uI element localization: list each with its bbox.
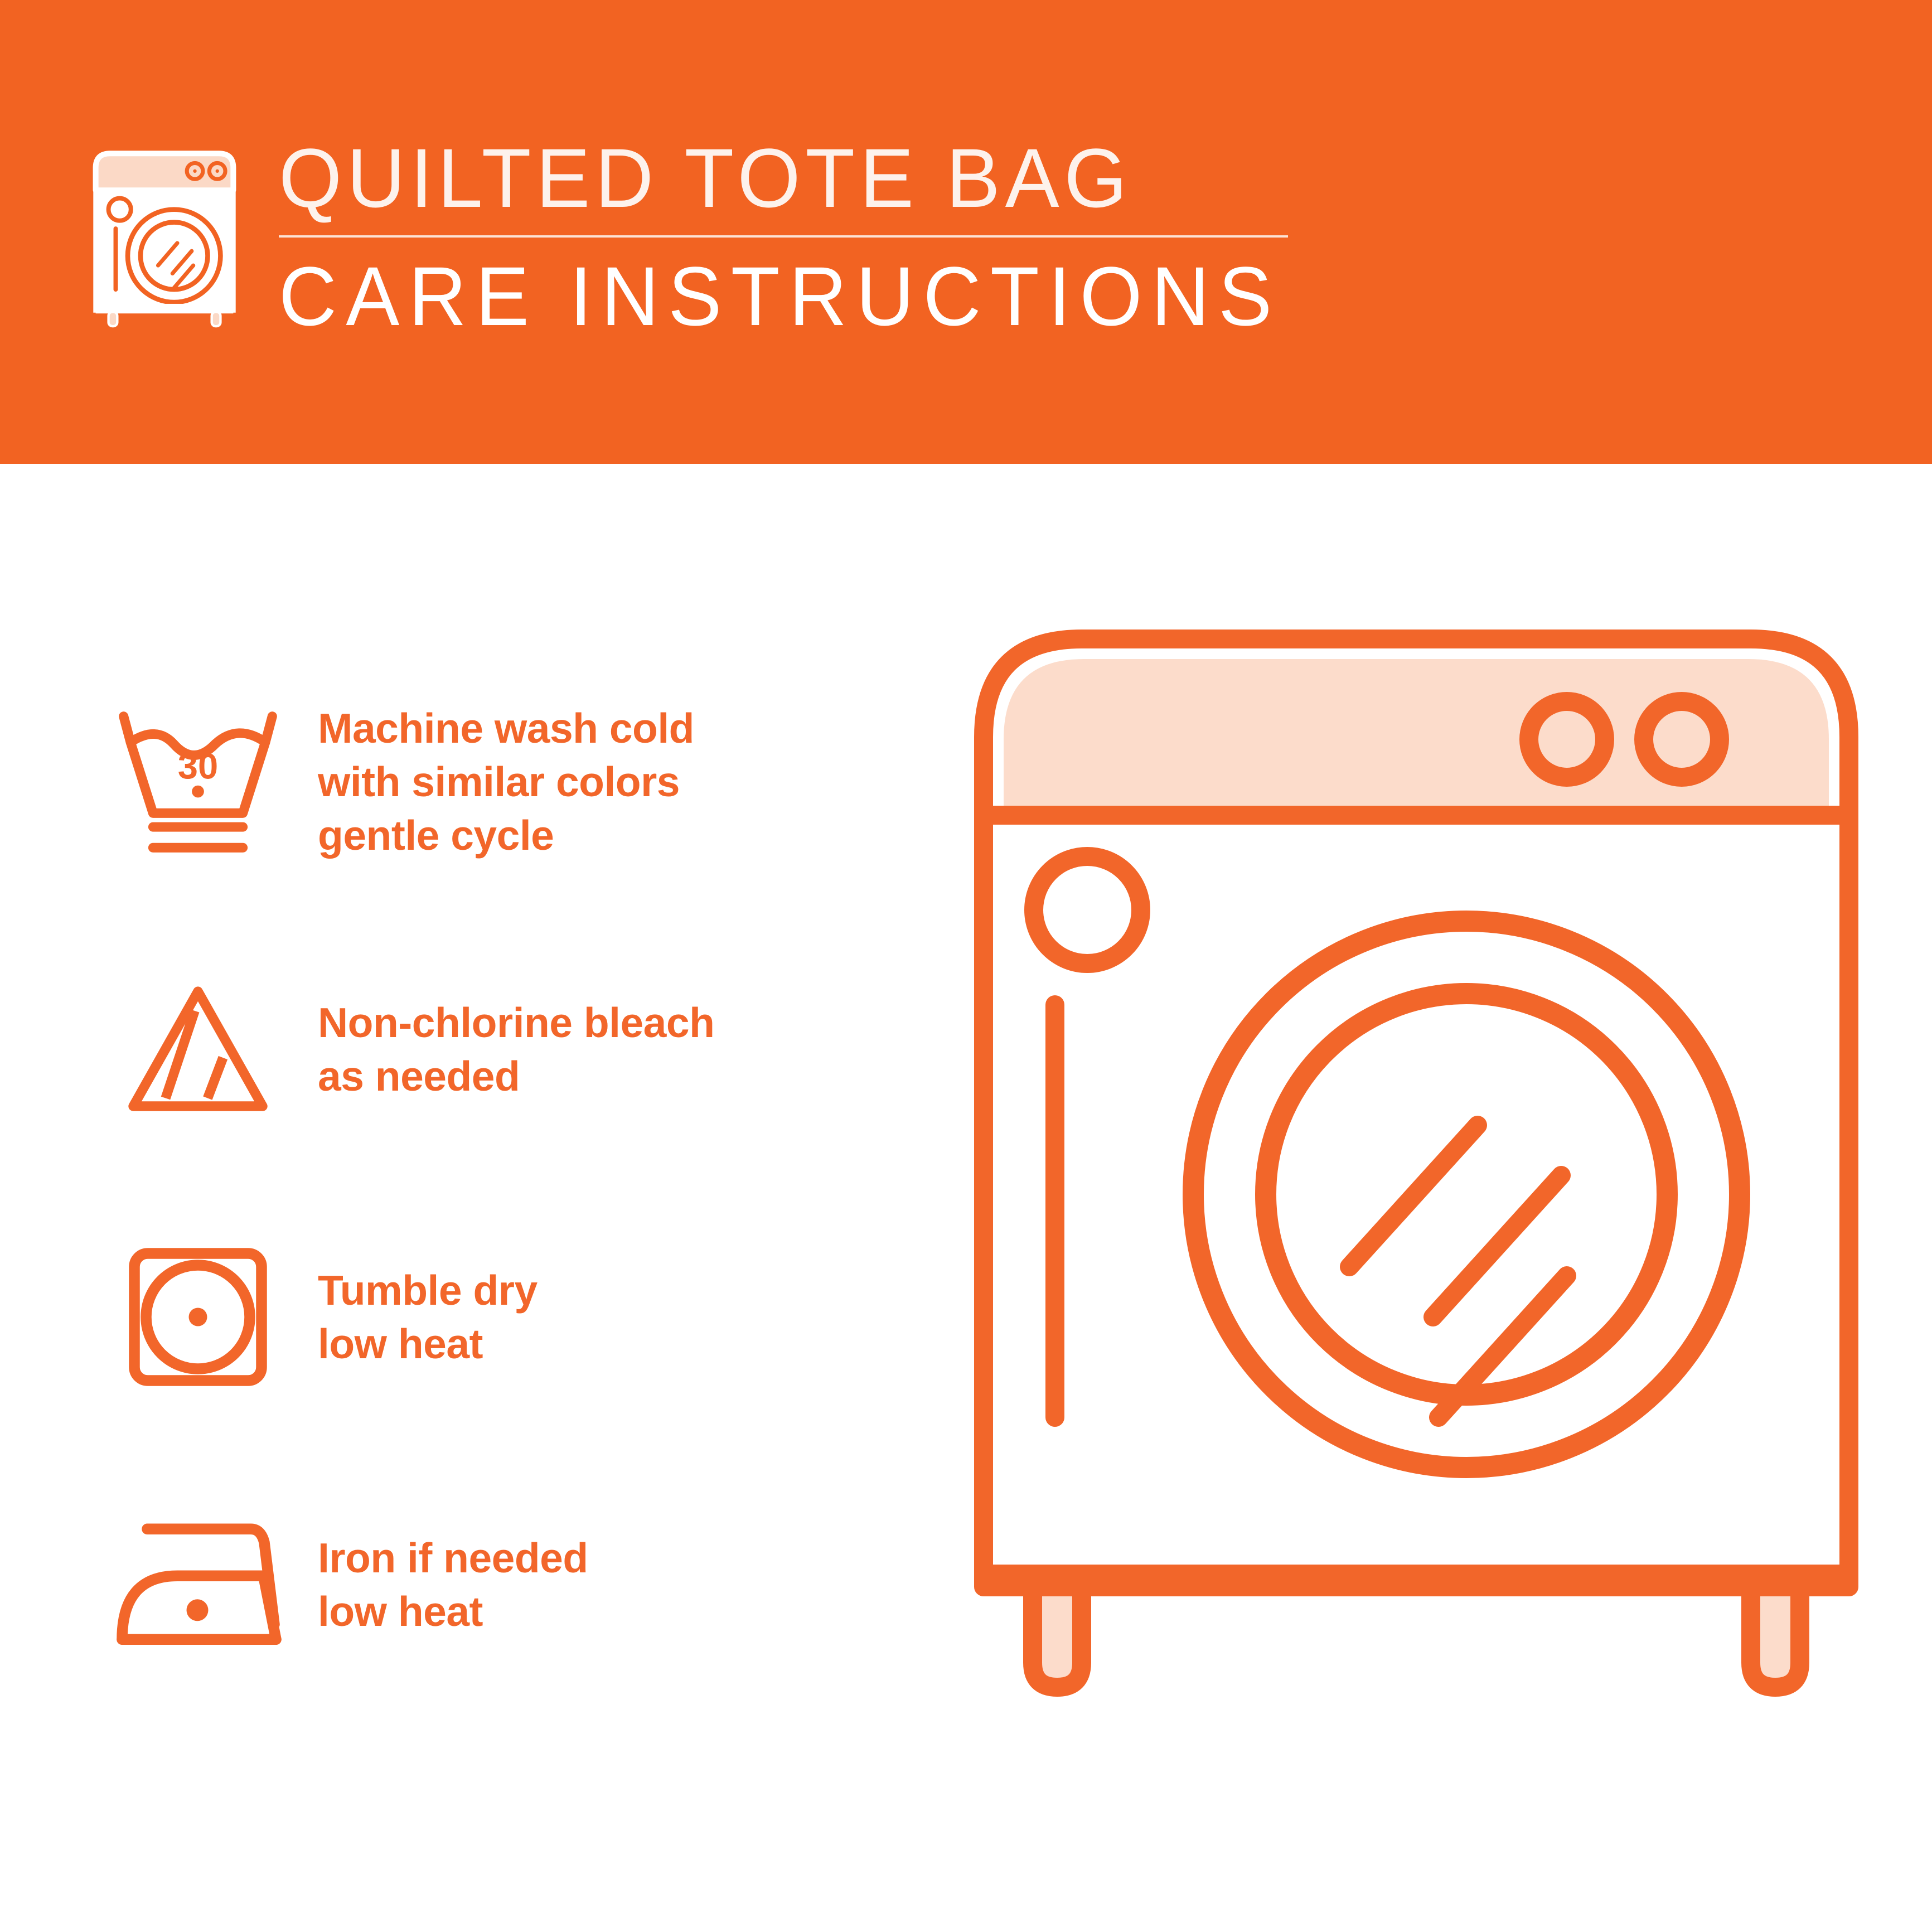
care-row-machine-wash: 30 Machine wash cold with similar colors… [89,648,926,916]
care-label-line: as needed [318,1049,714,1103]
washing-machine-illustration [959,614,1873,1713]
care-label-bleach: Non-chlorine bleach as needed [318,996,714,1103]
care-label-tumble-dry: Tumble dry low heat [318,1263,538,1371]
leg-left [1033,1587,1082,1687]
care-instruction-list: 30 Machine wash cold with similar colors… [89,648,926,1718]
page-header: QUILTED TOTE BAG CARE INSTRUCTIONS [0,0,1932,464]
page-subtitle: CARE INSTRUCTIONS [279,254,1281,338]
care-label-line: Machine wash cold [318,701,694,755]
svg-text:30: 30 [178,745,218,786]
header-title-group: QUILTED TOTE BAG CARE INSTRUCTIONS [279,134,1323,338]
care-label-line: low heat [318,1317,538,1371]
header-content: QUILTED TOTE BAG CARE INSTRUCTIONS [84,134,1323,338]
care-row-iron: Iron if needed low heat [89,1451,926,1718]
care-row-bleach: Non-chlorine bleach as needed [89,916,926,1183]
page-title: QUILTED TOTE BAG [279,136,1291,220]
care-label-iron: Iron if needed low heat [318,1531,588,1638]
care-label-line: Iron if needed [318,1531,588,1585]
title-divider [279,235,1288,238]
leg-right [1751,1587,1800,1687]
iron-low-heat-icon [89,1515,307,1654]
care-label-line: with similar colors [318,755,694,808]
washing-machine-icon [84,144,245,328]
care-label-line: Tumble dry [318,1263,538,1317]
care-label-line: low heat [318,1585,588,1638]
care-label-line: gentle cycle [318,808,694,862]
main-content: 30 Machine wash cold with similar colors… [0,464,1932,1932]
care-label-line: Non-chlorine bleach [318,996,714,1049]
tumble-dry-low-icon [89,1242,307,1392]
wash-tub-30-gentle-icon: 30 [89,704,307,860]
care-label-machine-wash: Machine wash cold with similar colors ge… [318,701,694,862]
care-row-tumble-dry: Tumble dry low heat [89,1183,926,1451]
non-chlorine-bleach-triangle-icon [89,977,307,1122]
